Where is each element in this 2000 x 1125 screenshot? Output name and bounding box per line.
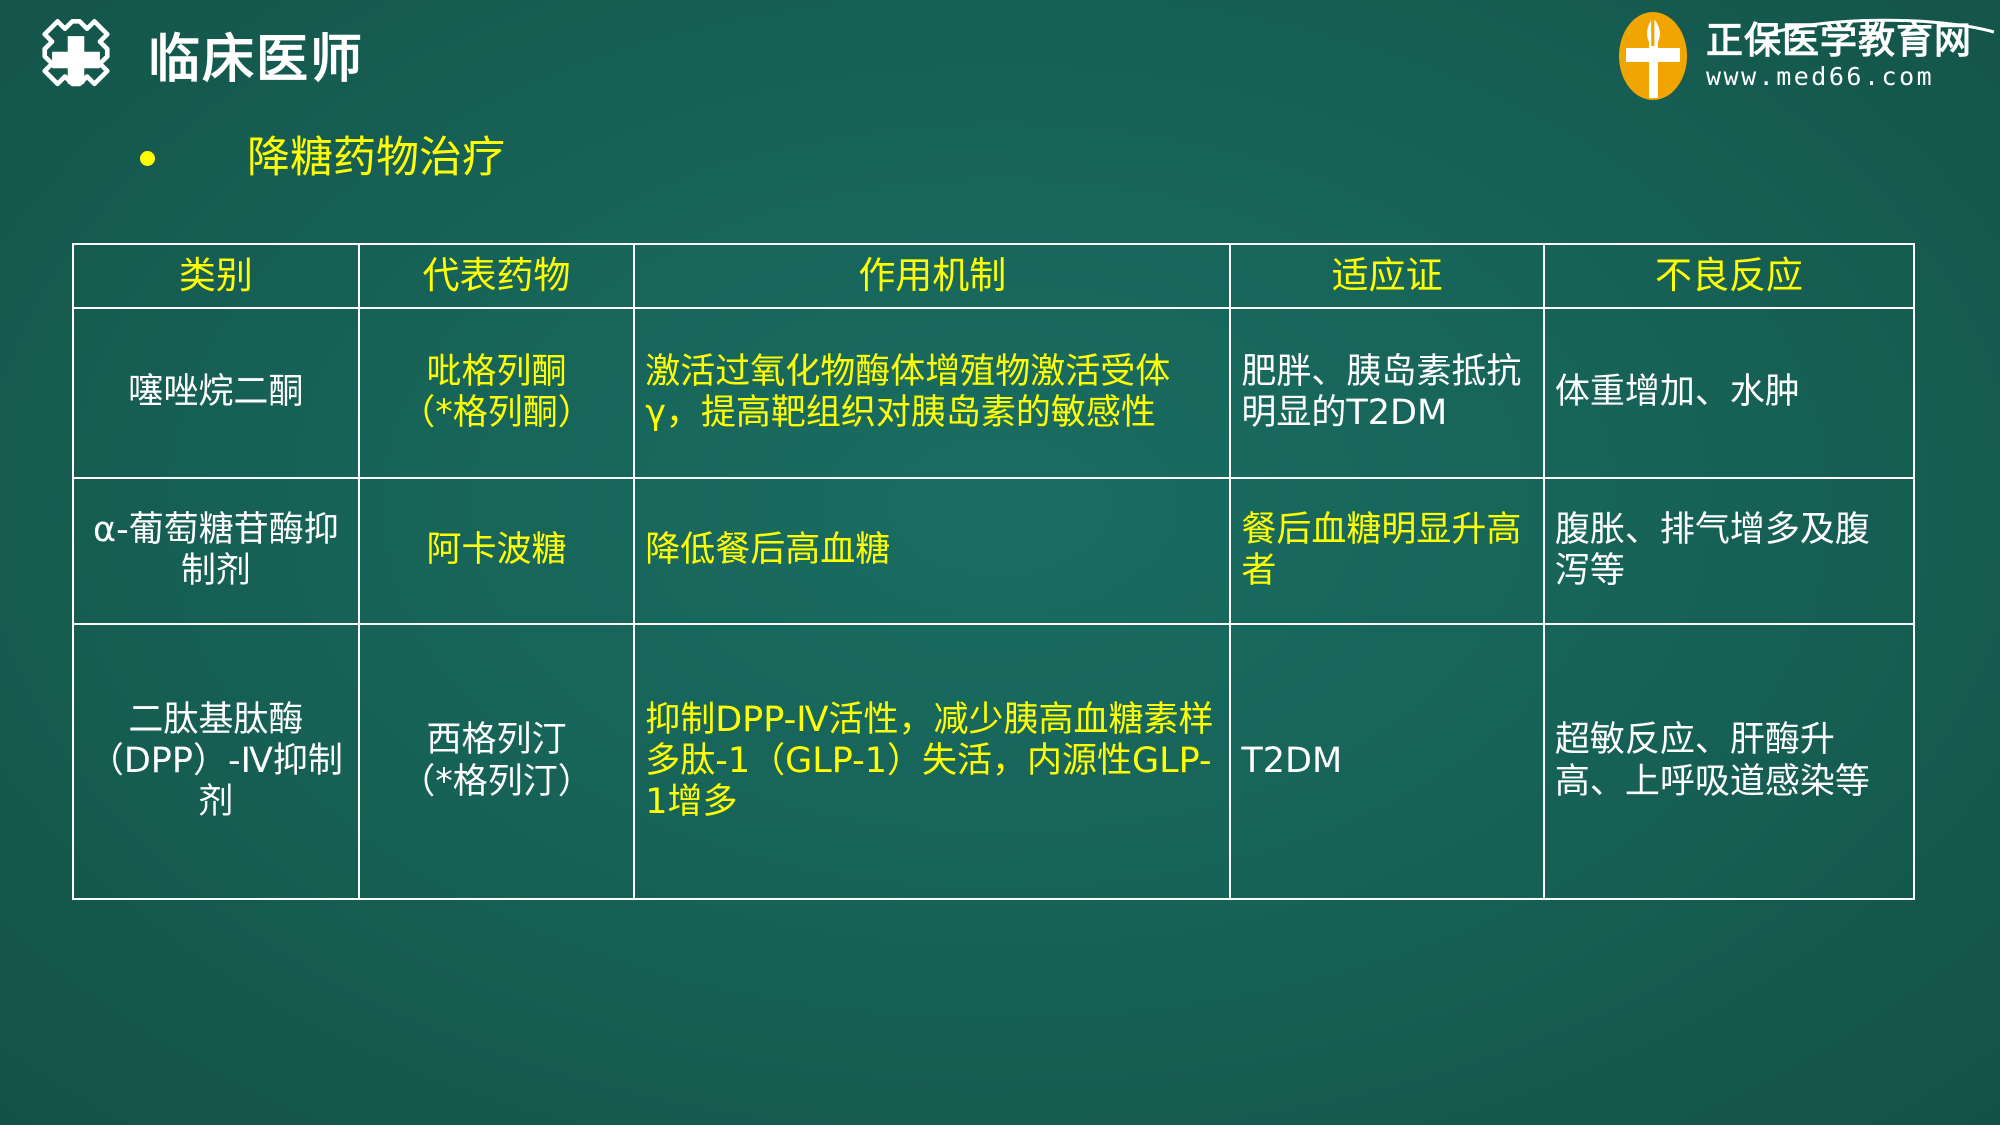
cell-drug: 吡格列酮 （*格列酮） (359, 308, 634, 478)
cell-mechanism: 降低餐后高血糖 (634, 478, 1230, 624)
table-header-indication: 适应证 (1230, 244, 1544, 308)
table-header-drug: 代表药物 (359, 244, 634, 308)
cell-adverse: 体重增加、水肿 (1544, 308, 1914, 478)
table-header-row: 类别 代表药物 作用机制 适应证 不良反应 (73, 244, 1914, 308)
slide-canvas: 临床医师 正保医学教育网 www.med66.com (0, 0, 2000, 1125)
drug-therapy-table: 类别 代表药物 作用机制 适应证 不良反应 噻唑烷二酮 吡格列酮 （*格列酮） … (72, 243, 1915, 900)
table-row: 二肽基肽酶（DPP）-Ⅳ抑制剂 西格列汀 （*格列汀） 抑制DPP-Ⅳ活性，减少… (73, 624, 1914, 899)
cell-mechanism: 激活过氧化物酶体增殖物激活受体γ，提高靶组织对胰岛素的敏感性 (634, 308, 1230, 478)
medical-cross-icon (30, 14, 122, 106)
bullet-dot-icon (140, 151, 155, 166)
cell-adverse: 超敏反应、肝酶升高、上呼吸道感染等 (1544, 624, 1914, 899)
brand-right[interactable]: 正保医学教育网 www.med66.com (1616, 10, 1972, 102)
table-header-category: 类别 (73, 244, 359, 308)
cell-drug: 阿卡波糖 (359, 478, 634, 624)
cell-drug: 西格列汀 （*格列汀） (359, 624, 634, 899)
brand-title: 临床医师 (148, 34, 364, 86)
brand-right-text: 正保医学教育网 www.med66.com (1706, 22, 1972, 90)
bullet-title-text: 降糖药物治疗 (247, 137, 505, 180)
cell-indication: 餐后血糖明显升高者 (1230, 478, 1544, 624)
table-row: α-葡萄糖苷酶抑制剂 阿卡波糖 降低餐后高血糖 餐后血糖明显升高者 腹胀、排气增… (73, 478, 1914, 624)
med66-url: www.med66.com (1706, 63, 1934, 91)
table-header-adverse: 不良反应 (1544, 244, 1914, 308)
med66-name: 正保医学教育网 (1706, 22, 1972, 61)
cell-category: 噻唑烷二酮 (73, 308, 359, 478)
cell-category: α-葡萄糖苷酶抑制剂 (73, 478, 359, 624)
cell-category: 二肽基肽酶（DPP）-Ⅳ抑制剂 (73, 624, 359, 899)
cell-indication: T2DM (1230, 624, 1544, 899)
cell-adverse: 腹胀、排气增多及腹泻等 (1544, 478, 1914, 624)
table-row: 噻唑烷二酮 吡格列酮 （*格列酮） 激活过氧化物酶体增殖物激活受体γ，提高靶组织… (73, 308, 1914, 478)
table-header-mechanism: 作用机制 (634, 244, 1230, 308)
brand-left: 临床医师 (30, 14, 364, 106)
bullet-title-row: 降糖药物治疗 (140, 128, 505, 188)
med66-oval-cross-icon (1616, 10, 1690, 102)
cell-indication: 肥胖、胰岛素抵抗明显的T2DM (1230, 308, 1544, 478)
cell-mechanism: 抑制DPP-Ⅳ活性，减少胰高血糖素样多肽-1（GLP-1）失活，内源性GLP-1… (634, 624, 1230, 899)
slide-header: 临床医师 正保医学教育网 www.med66.com (0, 0, 2000, 118)
